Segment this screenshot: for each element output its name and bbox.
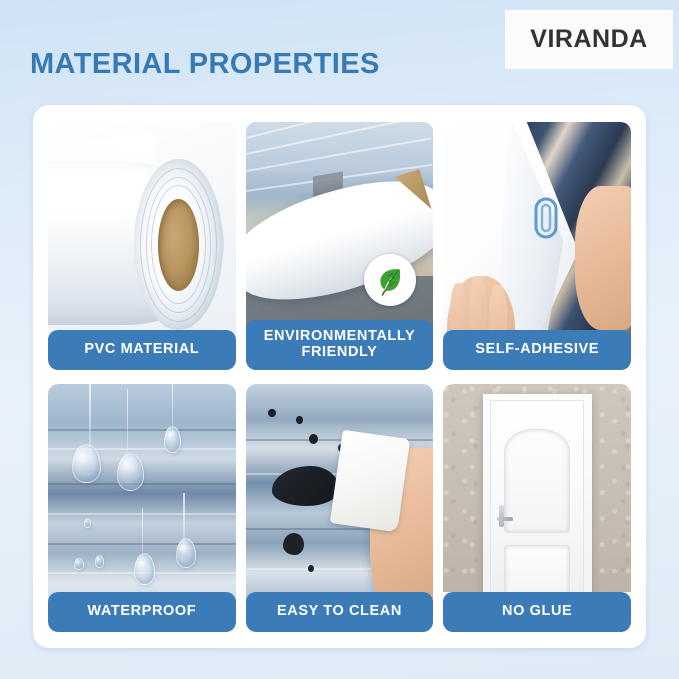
door-panel-top [504, 429, 570, 533]
water-droplet [134, 553, 155, 585]
water-droplet [74, 558, 83, 570]
content-panel: PVC MATERIAL [33, 105, 646, 648]
droplet-trail [89, 384, 91, 453]
card-label-self-adhesive: SELF-ADHESIVE [443, 330, 631, 370]
door-slab [490, 400, 584, 602]
wood-grain-line [48, 429, 236, 431]
scene-streak [246, 122, 428, 139]
cleaning-cloth [330, 429, 410, 532]
stain-mark [268, 409, 276, 417]
door-handle [499, 505, 504, 527]
card-label-pvc-material: PVC MATERIAL [48, 330, 236, 370]
card-label-environmentally-friendly: ENVIRONMENTALLY FRIENDLY [246, 320, 434, 370]
page-title: MATERIAL PROPERTIES [30, 48, 380, 81]
door-handle-lever [497, 517, 513, 521]
card-label-waterproof: WATERPROOF [48, 592, 236, 632]
brand-name: VIRANDA [530, 25, 647, 54]
feature-card-waterproof[interactable]: WATERPROOF [48, 384, 236, 632]
door-panel-bottom [504, 545, 570, 597]
feature-card-no-glue[interactable]: NO GLUE [443, 384, 631, 632]
feature-grid: PVC MATERIAL [48, 122, 631, 632]
scene-streak [246, 122, 430, 155]
brand-badge: VIRANDA [505, 10, 673, 69]
card-label-no-glue: NO GLUE [443, 592, 631, 632]
feature-card-easy-to-clean[interactable]: EASY TO CLEAN [246, 384, 434, 632]
stain-mark [296, 416, 302, 423]
paperclip-icon [533, 196, 559, 240]
stain-mark [308, 565, 314, 572]
water-droplet [84, 518, 92, 528]
card-label-easy-to-clean: EASY TO CLEAN [246, 592, 434, 632]
water-droplet [95, 555, 104, 567]
leaf-icon [373, 263, 407, 297]
water-droplet [117, 453, 143, 490]
water-droplet [164, 426, 181, 453]
droplet-trail [127, 389, 129, 463]
eco-leaf-badge [364, 254, 416, 306]
feature-card-environmentally-friendly[interactable]: ENVIRONMENTALLY FRIENDLY [246, 122, 434, 370]
scene-streak [246, 137, 431, 172]
stain-mark [272, 466, 340, 506]
stain-mark [309, 434, 318, 444]
right-hand [575, 186, 631, 330]
stain-mark [283, 533, 304, 555]
feature-card-pvc-material[interactable]: PVC MATERIAL [48, 122, 236, 370]
door-frame [483, 394, 592, 602]
feature-card-self-adhesive[interactable]: SELF-ADHESIVE [443, 122, 631, 370]
water-droplet [72, 444, 100, 484]
roll-cardboard-core [158, 199, 199, 291]
